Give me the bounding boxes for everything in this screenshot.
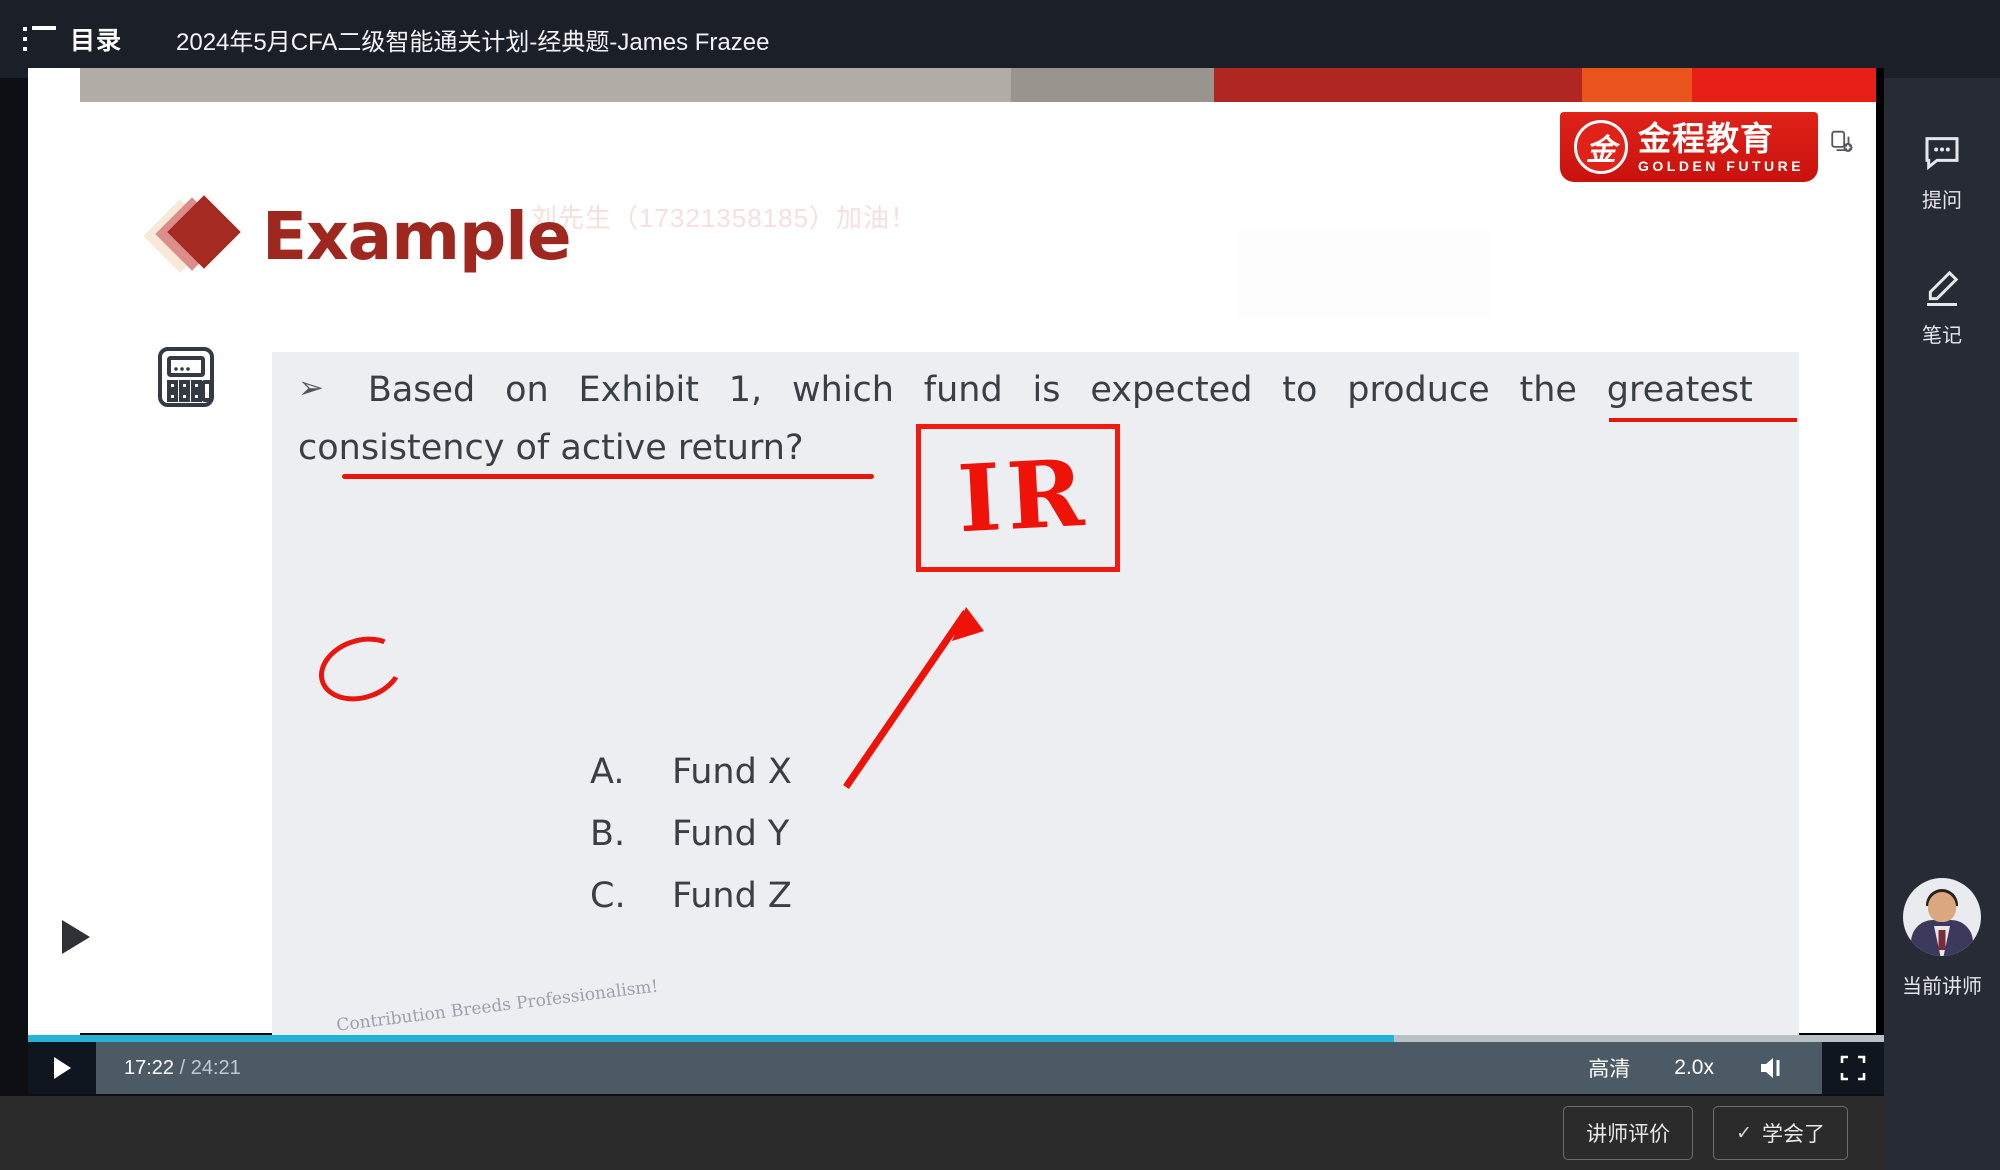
fullscreen-icon — [1840, 1055, 1866, 1081]
course-title: 2024年5月CFA二级智能通关计划-经典题-James Frazee — [176, 22, 769, 57]
choice-key: A. — [590, 752, 634, 792]
brand-name-cn: 金程教育 — [1638, 122, 1804, 155]
choice-label: Fund Y — [672, 814, 789, 854]
catalog-menu-label: 目录 — [70, 21, 122, 57]
instructor-label: 当前讲师 — [1902, 970, 1982, 999]
choice-key: B. — [590, 814, 634, 854]
slide-white-block — [1239, 230, 1489, 318]
play-icon — [54, 1057, 71, 1079]
question-line-2: consistency of active return? — [298, 424, 804, 474]
q-word: is — [1033, 366, 1061, 416]
q-word: expected — [1090, 366, 1252, 416]
volume-button[interactable] — [1758, 1055, 1788, 1081]
pencil-icon — [1922, 267, 1962, 307]
chat-bubble-icon — [1922, 132, 1962, 172]
time-separator: / — [180, 1057, 186, 1079]
top-bar: 目录 2024年5月CFA二级智能通关计划-经典题-James Frazee — [0, 0, 2000, 78]
q-word: fund — [924, 366, 1003, 416]
quality-button[interactable]: 高清 — [1588, 1053, 1630, 1083]
video-stage[interactable]: 刘先生（17321358185）加油！ 刘先生（17321358185）加油！ … — [28, 68, 1884, 1068]
time-display: 17:22 / 24:21 — [124, 1057, 241, 1080]
q-word: Based — [368, 366, 475, 416]
question-line-1: ➢ Based on Exhibit 1, which fund is expe… — [298, 366, 1753, 416]
play-button[interactable] — [28, 1042, 96, 1094]
current-instructor[interactable]: 当前讲师 — [1902, 878, 1982, 999]
add-to-collection-icon[interactable] — [1820, 120, 1864, 164]
q-word: on — [505, 366, 549, 416]
video-player-app: 目录 2024年5月CFA二级智能通关计划-经典题-James Frazee 刘… — [0, 0, 2000, 1170]
slide-title: Example — [262, 198, 571, 275]
choice-c[interactable]: C. Fund Z — [590, 876, 792, 916]
choice-label: Fund X — [672, 752, 792, 792]
bullet-icon: ➢ — [298, 366, 324, 416]
answer-choices: A. Fund X B. Fund Y C. Fund Z — [590, 752, 792, 938]
q-word: 1, — [729, 366, 762, 416]
list-icon — [22, 26, 56, 52]
brand-name-en: GOLDEN FUTURE — [1638, 159, 1804, 173]
bottom-action-bar: 讲师评价 ✓ 学会了 — [0, 1096, 1884, 1170]
calculator-icon — [154, 345, 218, 409]
learned-button[interactable]: ✓ 学会了 — [1713, 1106, 1848, 1160]
choice-key: C. — [590, 876, 634, 916]
volume-icon — [1758, 1055, 1788, 1081]
brand-logo: 金 金程教育 GOLDEN FUTURE — [1560, 112, 1818, 182]
choice-label: Fund Z — [672, 876, 792, 916]
play-overlay-panel — [28, 68, 80, 1068]
catalog-menu-button[interactable]: 目录 — [0, 0, 148, 78]
player-controls: 17:22 / 24:21 高清 2.0x — [28, 1042, 1884, 1094]
speed-button[interactable]: 2.0x — [1674, 1056, 1714, 1080]
instructor-review-button[interactable]: 讲师评价 — [1563, 1106, 1693, 1160]
sidebar-item-label: 提问 — [1922, 184, 1962, 213]
slide-surface: 刘先生（17321358185）加油！ 刘先生（17321358185）加油！ … — [36, 68, 1876, 1033]
question-text: ➢ Based on Exhibit 1, which fund is expe… — [298, 366, 1783, 473]
right-sidebar: 提问 笔记 当前讲师 — [1884, 78, 2000, 1170]
sidebar-item-notes[interactable]: 笔记 — [1922, 267, 1962, 348]
q-word: greatest — [1607, 366, 1753, 416]
instructor-review-label: 讲师评价 — [1586, 1118, 1670, 1148]
choice-b[interactable]: B. Fund Y — [590, 814, 792, 854]
q-word: the — [1520, 366, 1577, 416]
slide-body: 刘先生（17321358185）加油！ 刘先生（17321358185）加油！ … — [36, 102, 1876, 1033]
total-time: 24:21 — [191, 1057, 241, 1079]
learned-label: 学会了 — [1762, 1118, 1825, 1148]
q-word: produce — [1347, 366, 1489, 416]
fullscreen-button[interactable] — [1822, 1042, 1884, 1094]
avatar — [1903, 878, 1981, 956]
slide-title-group: Example — [148, 188, 571, 284]
question-card: ➢ Based on Exhibit 1, which fund is expe… — [272, 352, 1799, 1068]
q-word: Exhibit — [579, 366, 699, 416]
sidebar-item-label: 笔记 — [1922, 319, 1962, 348]
sidebar-item-ask[interactable]: 提问 — [1922, 132, 1962, 213]
q-word: which — [792, 366, 894, 416]
slide-watermark: 刘先生（17321358185）加油！ — [531, 198, 917, 235]
brand-seal-icon: 金 — [1574, 120, 1628, 174]
check-icon: ✓ — [1736, 1122, 1752, 1145]
progress-bar[interactable] — [28, 1035, 1884, 1042]
choice-a[interactable]: A. Fund X — [590, 752, 792, 792]
progress-fill — [28, 1035, 1394, 1042]
q-word: to — [1282, 366, 1317, 416]
current-time: 17:22 — [124, 1057, 174, 1079]
center-play-icon[interactable] — [62, 920, 90, 954]
slide-color-band — [36, 68, 1876, 102]
diamond-logo-icon — [148, 188, 244, 284]
